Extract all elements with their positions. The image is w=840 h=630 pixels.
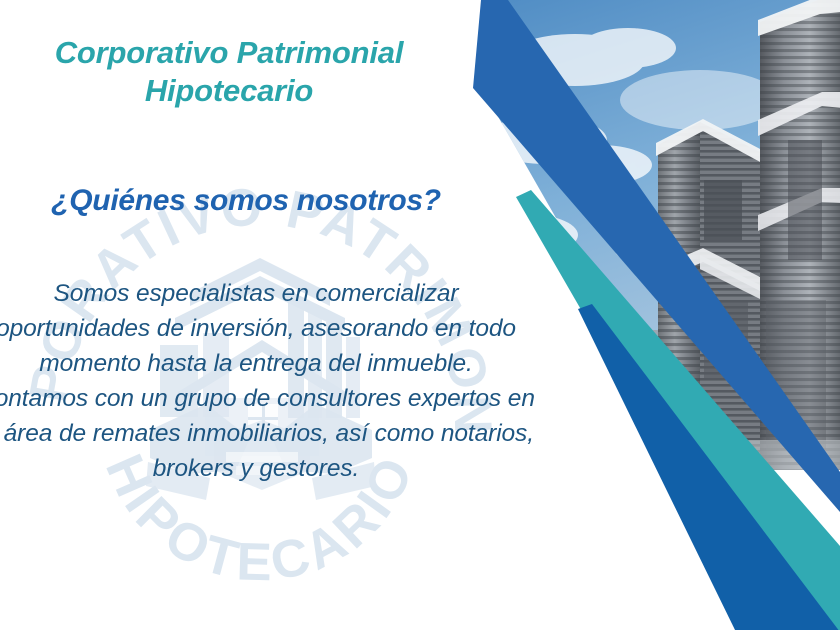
stripe-blue — [578, 304, 840, 630]
presentation-slide: CORPORATIVO PATRIMONIAL HIPOTECARIO — [0, 0, 840, 630]
stripe-teal — [516, 190, 840, 630]
title-line-1: Corporativo Patrimonial — [55, 35, 404, 70]
tower-right — [758, 0, 840, 470]
title-line-2: Hipotecario — [145, 73, 313, 108]
section-heading: ¿Quiénes somos nosotros? — [0, 183, 496, 219]
body-copy: Somos especialistas en comercializar opo… — [0, 276, 536, 486]
body-paragraph-2: Contamos con un grupo de consultores exp… — [0, 381, 536, 486]
page-title: Corporativo Patrimonial Hipotecario — [0, 34, 464, 111]
tower-left — [656, 119, 762, 470]
body-paragraph-1: Somos especialistas en comercializar opo… — [0, 276, 536, 381]
